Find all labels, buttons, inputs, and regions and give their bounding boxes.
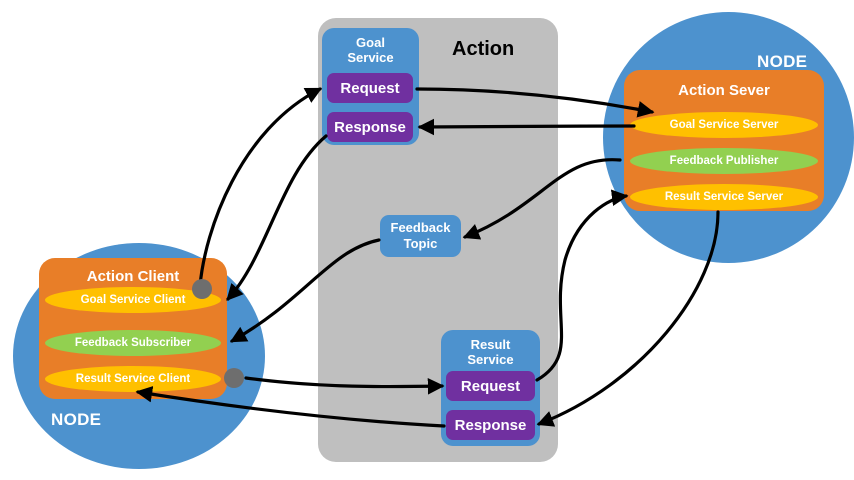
goal-service-title-line2: Service: [322, 50, 419, 65]
action-server-title: Action Sever: [624, 82, 824, 99]
arrow-goal-client-to-request: [200, 89, 320, 286]
feedback-topic-box[interactable]: Feedback Topic: [380, 215, 461, 257]
connection-dot-client-result: [224, 368, 244, 388]
result-service-title-line1: Result: [441, 337, 540, 352]
server-node-label: NODE: [757, 52, 807, 72]
result-service-response[interactable]: Response: [446, 410, 535, 440]
goal-service-response[interactable]: Response: [327, 112, 413, 142]
result-service-request[interactable]: Request: [446, 371, 535, 401]
ros2-action-diagram: Action NODE Action Client Goal Service C…: [0, 0, 854, 480]
goal-service-title: Goal Service: [322, 35, 419, 65]
arrow-goal-response-to-client: [228, 136, 326, 299]
pill-goal-service-server[interactable]: Goal Service Server: [630, 112, 818, 138]
result-service-title-line2: Service: [441, 352, 540, 367]
feedback-topic-line1: Feedback: [391, 220, 451, 236]
feedback-topic-line2: Topic: [404, 236, 438, 252]
connection-dot-client-goal: [192, 279, 212, 299]
pill-feedback-publisher[interactable]: Feedback Publisher: [630, 148, 818, 174]
pill-result-service-server[interactable]: Result Service Server: [630, 184, 818, 210]
client-node-label: NODE: [51, 410, 101, 430]
pill-feedback-subscriber[interactable]: Feedback Subscriber: [45, 330, 221, 356]
goal-service-request[interactable]: Request: [327, 73, 413, 103]
goal-service-title-line1: Goal: [322, 35, 419, 50]
result-service-title: Result Service: [441, 337, 540, 367]
action-group-title: Action: [452, 38, 514, 61]
pill-result-service-client[interactable]: Result Service Client: [45, 366, 221, 392]
